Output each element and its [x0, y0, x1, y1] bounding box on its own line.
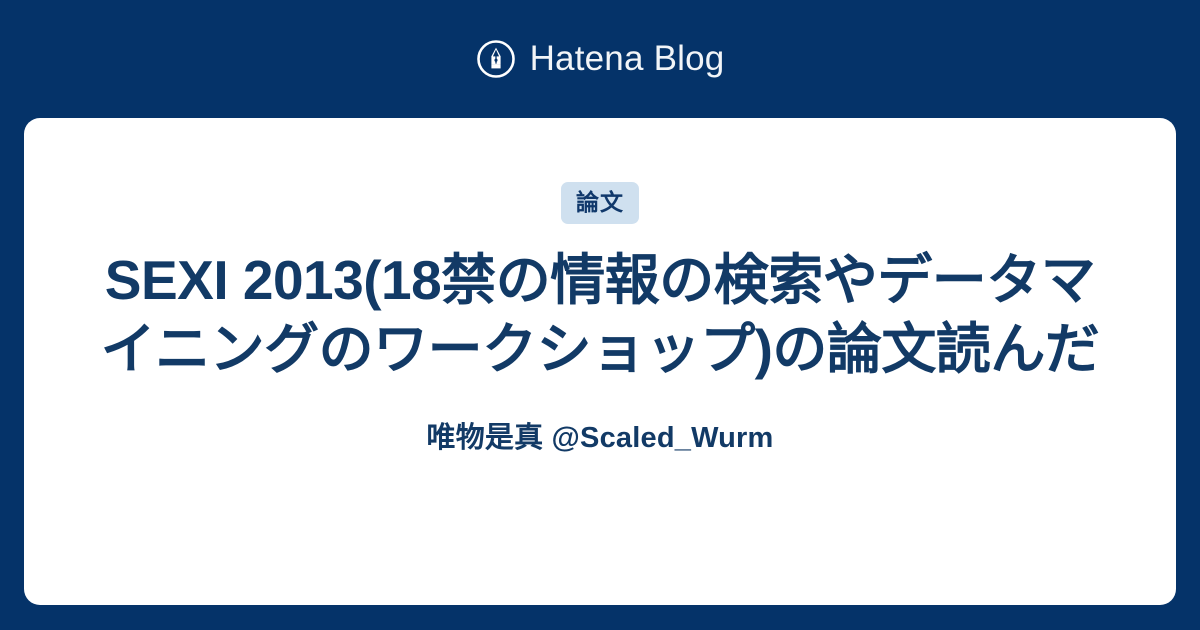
brand-header: Hatena Blog [0, 0, 1200, 118]
ogp-card-canvas: Hatena Blog 論文 SEXI 2013(18禁の情報の検索やデータマイ… [0, 0, 1200, 630]
entry-title: SEXI 2013(18禁の情報の検索やデータマイニングのワークショップ)の論文… [100, 246, 1100, 384]
fountain-pen-nib-circle-icon [476, 39, 516, 79]
blog-title: 唯物是真 @Scaled_Wurm [427, 418, 774, 458]
category-badge[interactable]: 論文 [561, 182, 639, 224]
brand-name: Hatena Blog [530, 39, 725, 79]
entry-card: 論文 SEXI 2013(18禁の情報の検索やデータマイニングのワークショップ)… [24, 118, 1176, 605]
